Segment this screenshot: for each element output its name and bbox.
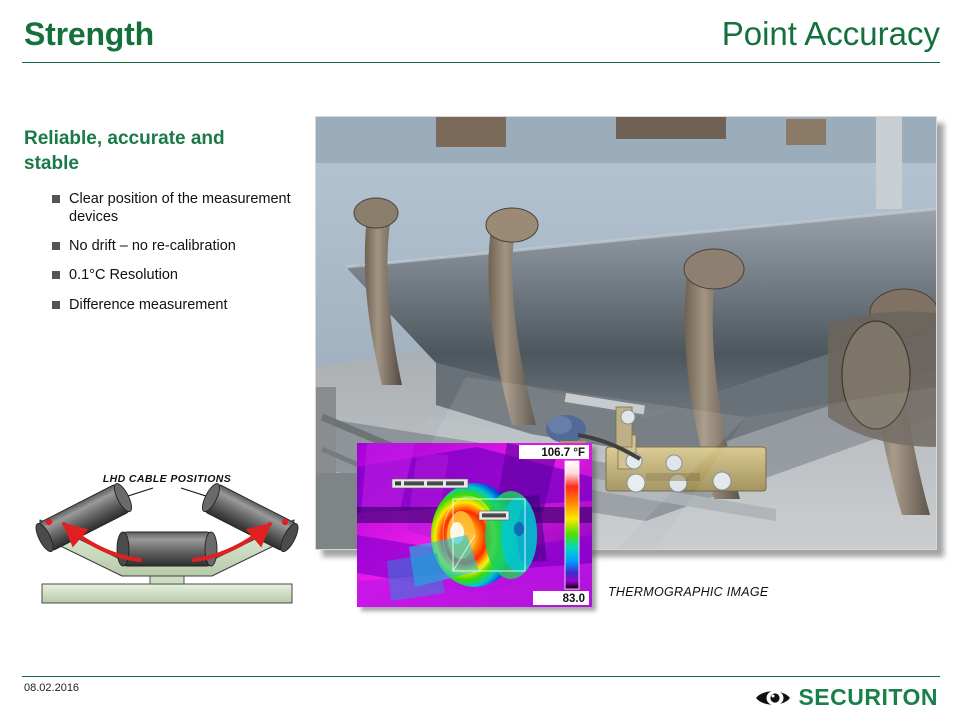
section-subheading: Reliable, accurate and stable [24, 126, 274, 176]
slide-root: Strength Point Accuracy Reliable, accura… [0, 0, 960, 720]
page-subtitle: Point Accuracy [722, 15, 940, 53]
brand-name: SECURITON [798, 684, 938, 711]
list-item-label: No drift – no re-calibration [69, 237, 236, 255]
square-bullet-icon [52, 195, 60, 203]
thermographic-image: 106.7 °F 83.0 [357, 443, 592, 607]
securiton-logo: SECURITON [755, 684, 938, 711]
thermographic-image-caption: THERMOGRAPHIC IMAGE [608, 585, 769, 599]
svg-text:LHD CABLE POSITIONS: LHD CABLE POSITIONS [103, 473, 231, 485]
square-bullet-icon [52, 301, 60, 309]
header-divider [22, 62, 940, 63]
list-item: Clear position of the measurement device… [52, 190, 302, 226]
list-item-label: Difference measurement [69, 296, 228, 314]
bullet-list: Clear position of the measurement device… [52, 190, 302, 325]
footer-divider [22, 676, 940, 677]
list-item: Difference measurement [52, 296, 302, 314]
thermal-scale-max: 106.7 °F [541, 447, 585, 459]
list-item: No drift – no re-calibration [52, 237, 302, 255]
slide-date: 08.02.2016 [24, 682, 79, 694]
idler-cable-position-diagram: LHD CABLE POSITIONS [22, 462, 312, 622]
eye-icon [755, 688, 791, 708]
thermal-scale-min: 83.0 [563, 593, 585, 605]
square-bullet-icon [52, 242, 60, 250]
square-bullet-icon [52, 271, 60, 279]
page-title: Strength [24, 16, 154, 53]
list-item: 0.1°C Resolution [52, 266, 302, 284]
list-item-label: Clear position of the measurement device… [69, 190, 302, 226]
list-item-label: 0.1°C Resolution [69, 266, 178, 284]
